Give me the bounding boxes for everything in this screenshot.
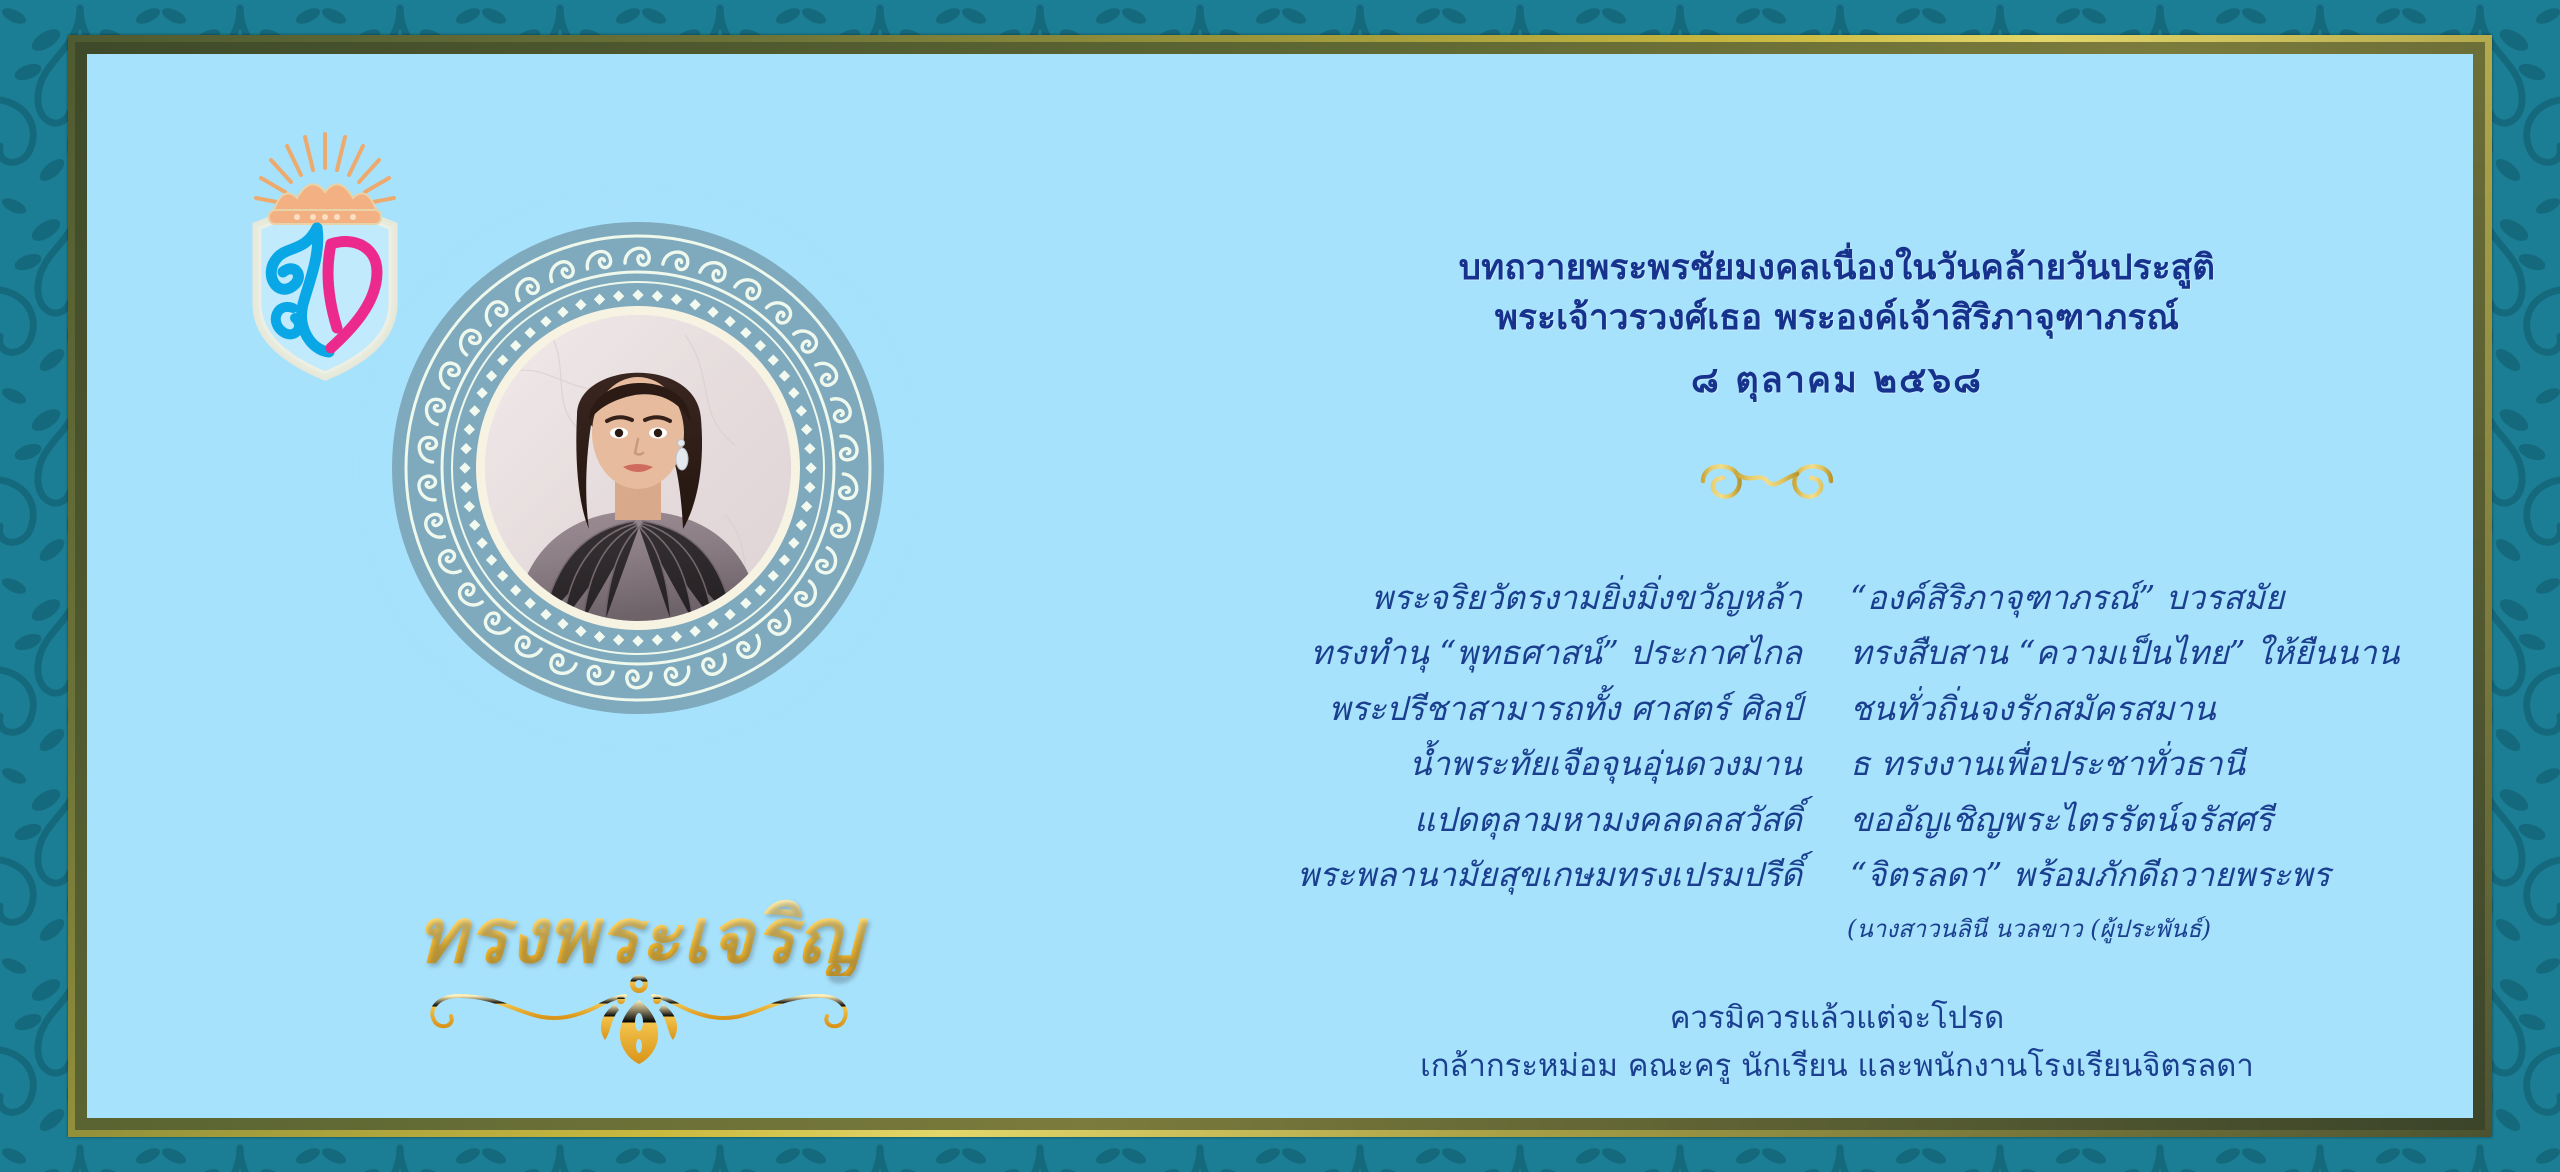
long-live-text: ทรงพระเจริญ (339, 896, 939, 976)
poem-line: พระพลานามัยสุขเกษมทรงเปรมปรีดิ์ (1172, 847, 1802, 902)
header-block: บทถวายพระพรชัยมงคลเนื่องในวันคล้ายวันประ… (1147, 244, 2485, 406)
header-date: ๘ ตุลาคม ๒๕๖๘ (1147, 355, 2485, 406)
poem-line: ทรงทำนุ “พุทธศาสน์” ประกาศไกล (1172, 625, 1802, 680)
poem-line: ทรงสืบสาน “ความเป็นไทย” ให้ยืนนาน (1850, 625, 2485, 680)
closing-line-2: เกล้ากระหม่อม คณะครู นักเรียน และพนักงาน… (1147, 1042, 2485, 1090)
poem-line: ธ ทรงงานเพื่อประชาทั่วธานี (1850, 736, 2485, 791)
poem-line: แปดตุลามหามงคลดลสวัสดิ์ (1172, 792, 1802, 847)
poem-line: “องค์สิริภาจุฑาภรณ์” บวรสมัย (1850, 570, 2485, 625)
poem-line: ขออัญเชิญพระไตรรัตน์จรัสศรี (1850, 792, 2485, 847)
closing-line-1: ควรมิควรแล้วแต่จะโปรด (1147, 994, 2485, 1042)
poem-line: ชนทั่วถิ่นจงรักสมัครสมาน (1850, 681, 2485, 736)
closing-block: ควรมิควรแล้วแต่จะโปรด เกล้ากระหม่อม คณะค… (1147, 994, 2485, 1090)
poem-line: พระจริยวัตรงามยิ่งมิ่งขวัญหล้า (1172, 570, 1802, 625)
poem-author: (นางสาวนลินี นวลขาว (ผู้ประพันธ์) (1847, 909, 2211, 948)
header-line-2: พระเจ้าวรวงศ์เธอ พระองค์เจ้าสิริภาจุฑาภร… (1147, 294, 2485, 344)
greeting-card: ทรงพระเจริญ (0, 0, 2560, 1172)
portrait-photo (485, 315, 791, 621)
poem-line: พระปรีชาสามารถทั้ง ศาสตร์ ศิลป์ (1172, 681, 1802, 736)
gold-frame-inner: ทรงพระเจริญ (75, 42, 2485, 1130)
long-live-block: ทรงพระเจริญ (339, 896, 939, 1071)
gold-ornamental-divider-icon (1507, 458, 2027, 504)
poem-line: น้ำพระทัยเจือจุนอุ่นดวงมาน (1172, 736, 1802, 791)
poem-column-right: “องค์สิริภาจุฑาภรณ์” บวรสมัย ทรงสืบสาน “… (1832, 570, 2485, 903)
gold-frame: ทรงพระเจริญ (68, 35, 2492, 1137)
card-panel: ทรงพระเจริญ (87, 54, 2473, 1118)
gold-flourish-ornament (339, 970, 939, 1066)
poem-column-left: พระจริยวัตรงามยิ่งมิ่งขวัญหล้า ทรงทำนุ “… (1172, 570, 1832, 903)
poem-line: “จิตรลดา” พร้อมภักดีถวายพระพร (1850, 847, 2485, 902)
header-line-1: บทถวายพระพรชัยมงคลเนื่องในวันคล้ายวันประ… (1147, 244, 2485, 294)
poem: พระจริยวัตรงามยิ่งมิ่งขวัญหล้า ทรงทำนุ “… (1172, 570, 2485, 903)
portrait-frame (392, 222, 884, 714)
